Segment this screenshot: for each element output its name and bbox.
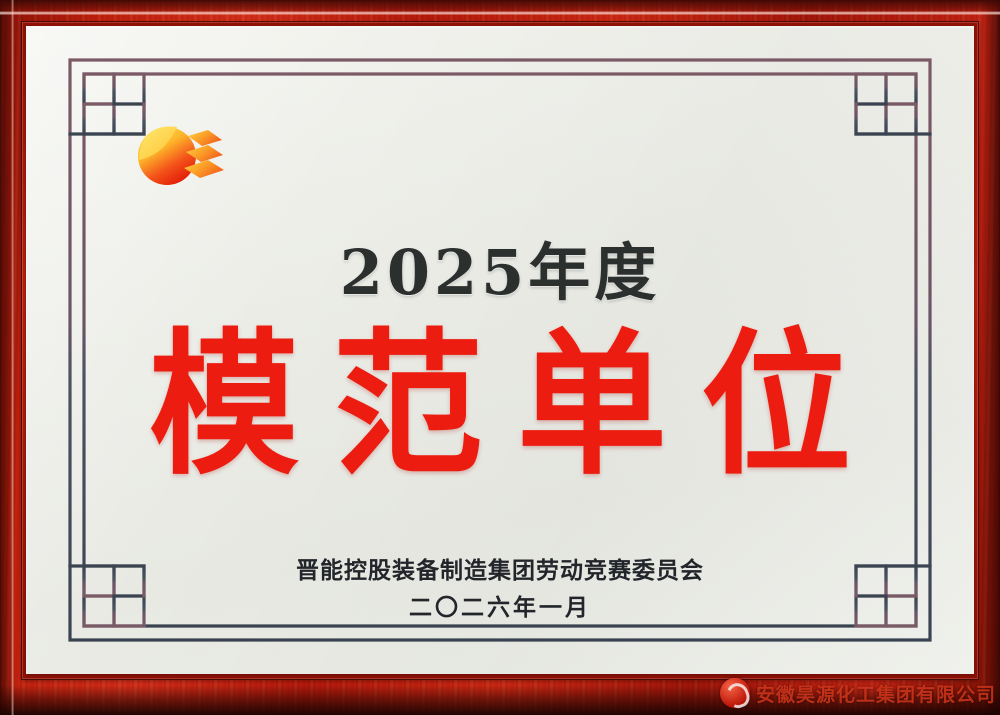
certificate-card: 2025年度 模范单位 晋能控股装备制造集团劳动竞赛委员会 二〇二六年一月 (26, 26, 974, 674)
award-year: 2025年度 (26, 222, 974, 312)
watermark: 安徽昊源化工集团有限公司 (720, 675, 996, 711)
award-year-text: 2025年度 (340, 236, 661, 309)
frame-highlight-left (11, 0, 14, 715)
award-plaque: 2025年度 模范单位 晋能控股装备制造集团劳动竞赛委员会 二〇二六年一月 安徽… (0, 0, 1000, 715)
company-emblem-logo (134, 118, 230, 190)
issuing-organization: 晋能控股装备制造集团劳动竞赛委员会 (26, 551, 974, 585)
frame-highlight-top (0, 11, 1000, 15)
award-title: 模范单位 (26, 319, 974, 494)
watermark-logo-icon (720, 678, 750, 708)
issue-date: 二〇二六年一月 (26, 588, 974, 622)
watermark-text: 安徽昊源化工集团有限公司 (756, 680, 996, 707)
